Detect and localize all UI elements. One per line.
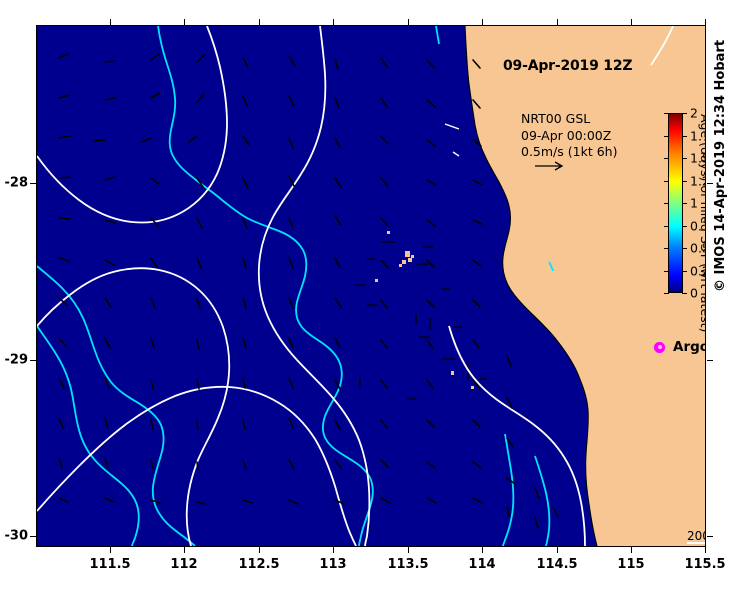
y-tick-label-1: -29 bbox=[2, 353, 28, 368]
depth-scale-legend: 200m 1000m bbox=[687, 525, 706, 547]
x-tick-label-2: 112.5 bbox=[238, 557, 279, 572]
x-tick-label-3: 113 bbox=[319, 557, 346, 572]
right-arrow-icon bbox=[535, 160, 565, 171]
annotation-line-1: NRT00 GSL bbox=[521, 111, 617, 128]
argo-legend-label: Argo bbox=[673, 339, 706, 355]
map-canvas bbox=[37, 26, 705, 546]
x-tick-label-1: 112 bbox=[170, 557, 197, 572]
map-plot-area[interactable]: 09-Apr-2019 12Z NRT00 GSL 09-Apr 00:00Z … bbox=[36, 25, 706, 547]
map-title: 09-Apr-2019 12Z bbox=[503, 58, 632, 74]
x-tick-label-7: 115 bbox=[617, 557, 644, 572]
x-tick-label-4: 113.5 bbox=[387, 557, 428, 572]
colorbar-title: Age (days) of filled SST (wrt latest) bbox=[697, 114, 706, 292]
x-tick-label-5: 114 bbox=[468, 557, 495, 572]
current-annotation: NRT00 GSL 09-Apr 00:00Z 0.5m/s (1kt 6h) bbox=[521, 111, 617, 161]
annotation-line-3: 0.5m/s (1kt 6h) bbox=[521, 144, 617, 161]
x-tick-label-0: 111.5 bbox=[89, 557, 130, 572]
depth-200m-label: 200m bbox=[687, 529, 706, 543]
colorbar: 0 0.25 0.5 0.75 1 1.25 1.5 1.75 2 bbox=[668, 113, 683, 293]
imos-credit: © IMOS 14-Apr-2019 12:34 Hobart bbox=[713, 40, 728, 292]
depth-legend-200m: 200m bbox=[687, 525, 706, 544]
y-tick-label-2: -30 bbox=[2, 529, 28, 544]
x-tick-label-6: 114.5 bbox=[536, 557, 577, 572]
x-tick-label-8: 115.5 bbox=[684, 557, 725, 572]
argo-marker-icon bbox=[654, 342, 665, 353]
y-tick-label-0: -28 bbox=[2, 176, 28, 191]
colorbar-gradient bbox=[668, 113, 683, 293]
argo-legend: Argo bbox=[654, 339, 706, 355]
depth-legend-1000m: 1000m bbox=[687, 544, 706, 547]
annotation-line-2: 09-Apr 00:00Z bbox=[521, 128, 617, 145]
